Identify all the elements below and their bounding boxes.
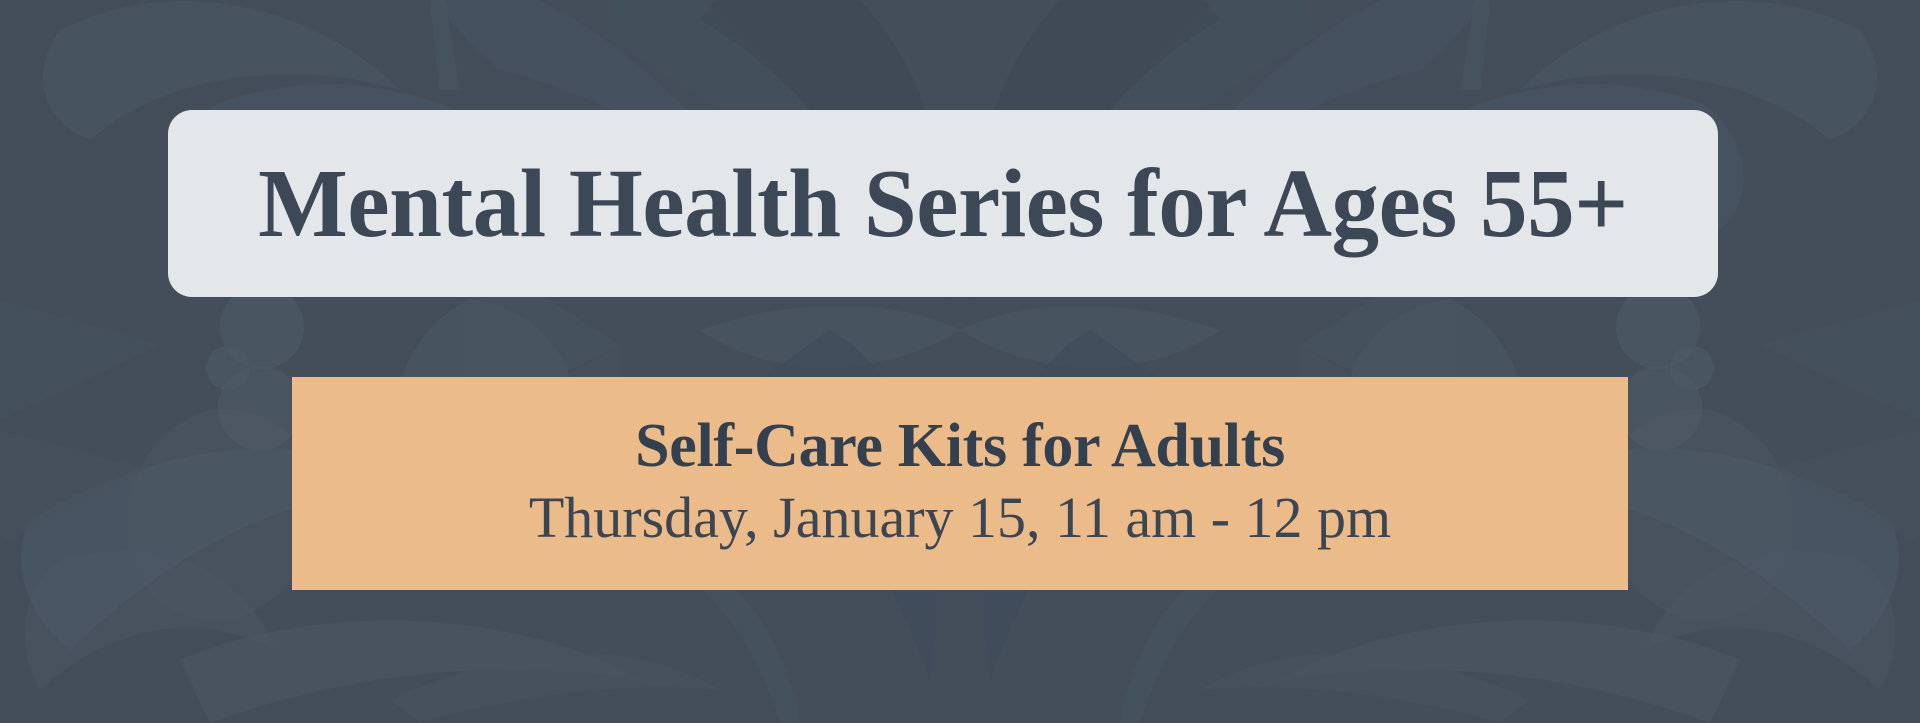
banner-content: Mental Health Series for Ages 55+ Self-C… — [0, 0, 1920, 723]
page-title: Mental Health Series for Ages 55+ — [258, 155, 1628, 253]
event-details-band: Self-Care Kits for Adults Thursday, Janu… — [292, 377, 1628, 590]
event-datetime: Thursday, January 15, 11 am - 12 pm — [529, 486, 1391, 551]
event-banner: Mental Health Series for Ages 55+ Self-C… — [0, 0, 1920, 723]
title-card: Mental Health Series for Ages 55+ — [168, 110, 1718, 297]
event-name: Self-Care Kits for Adults — [635, 413, 1285, 480]
